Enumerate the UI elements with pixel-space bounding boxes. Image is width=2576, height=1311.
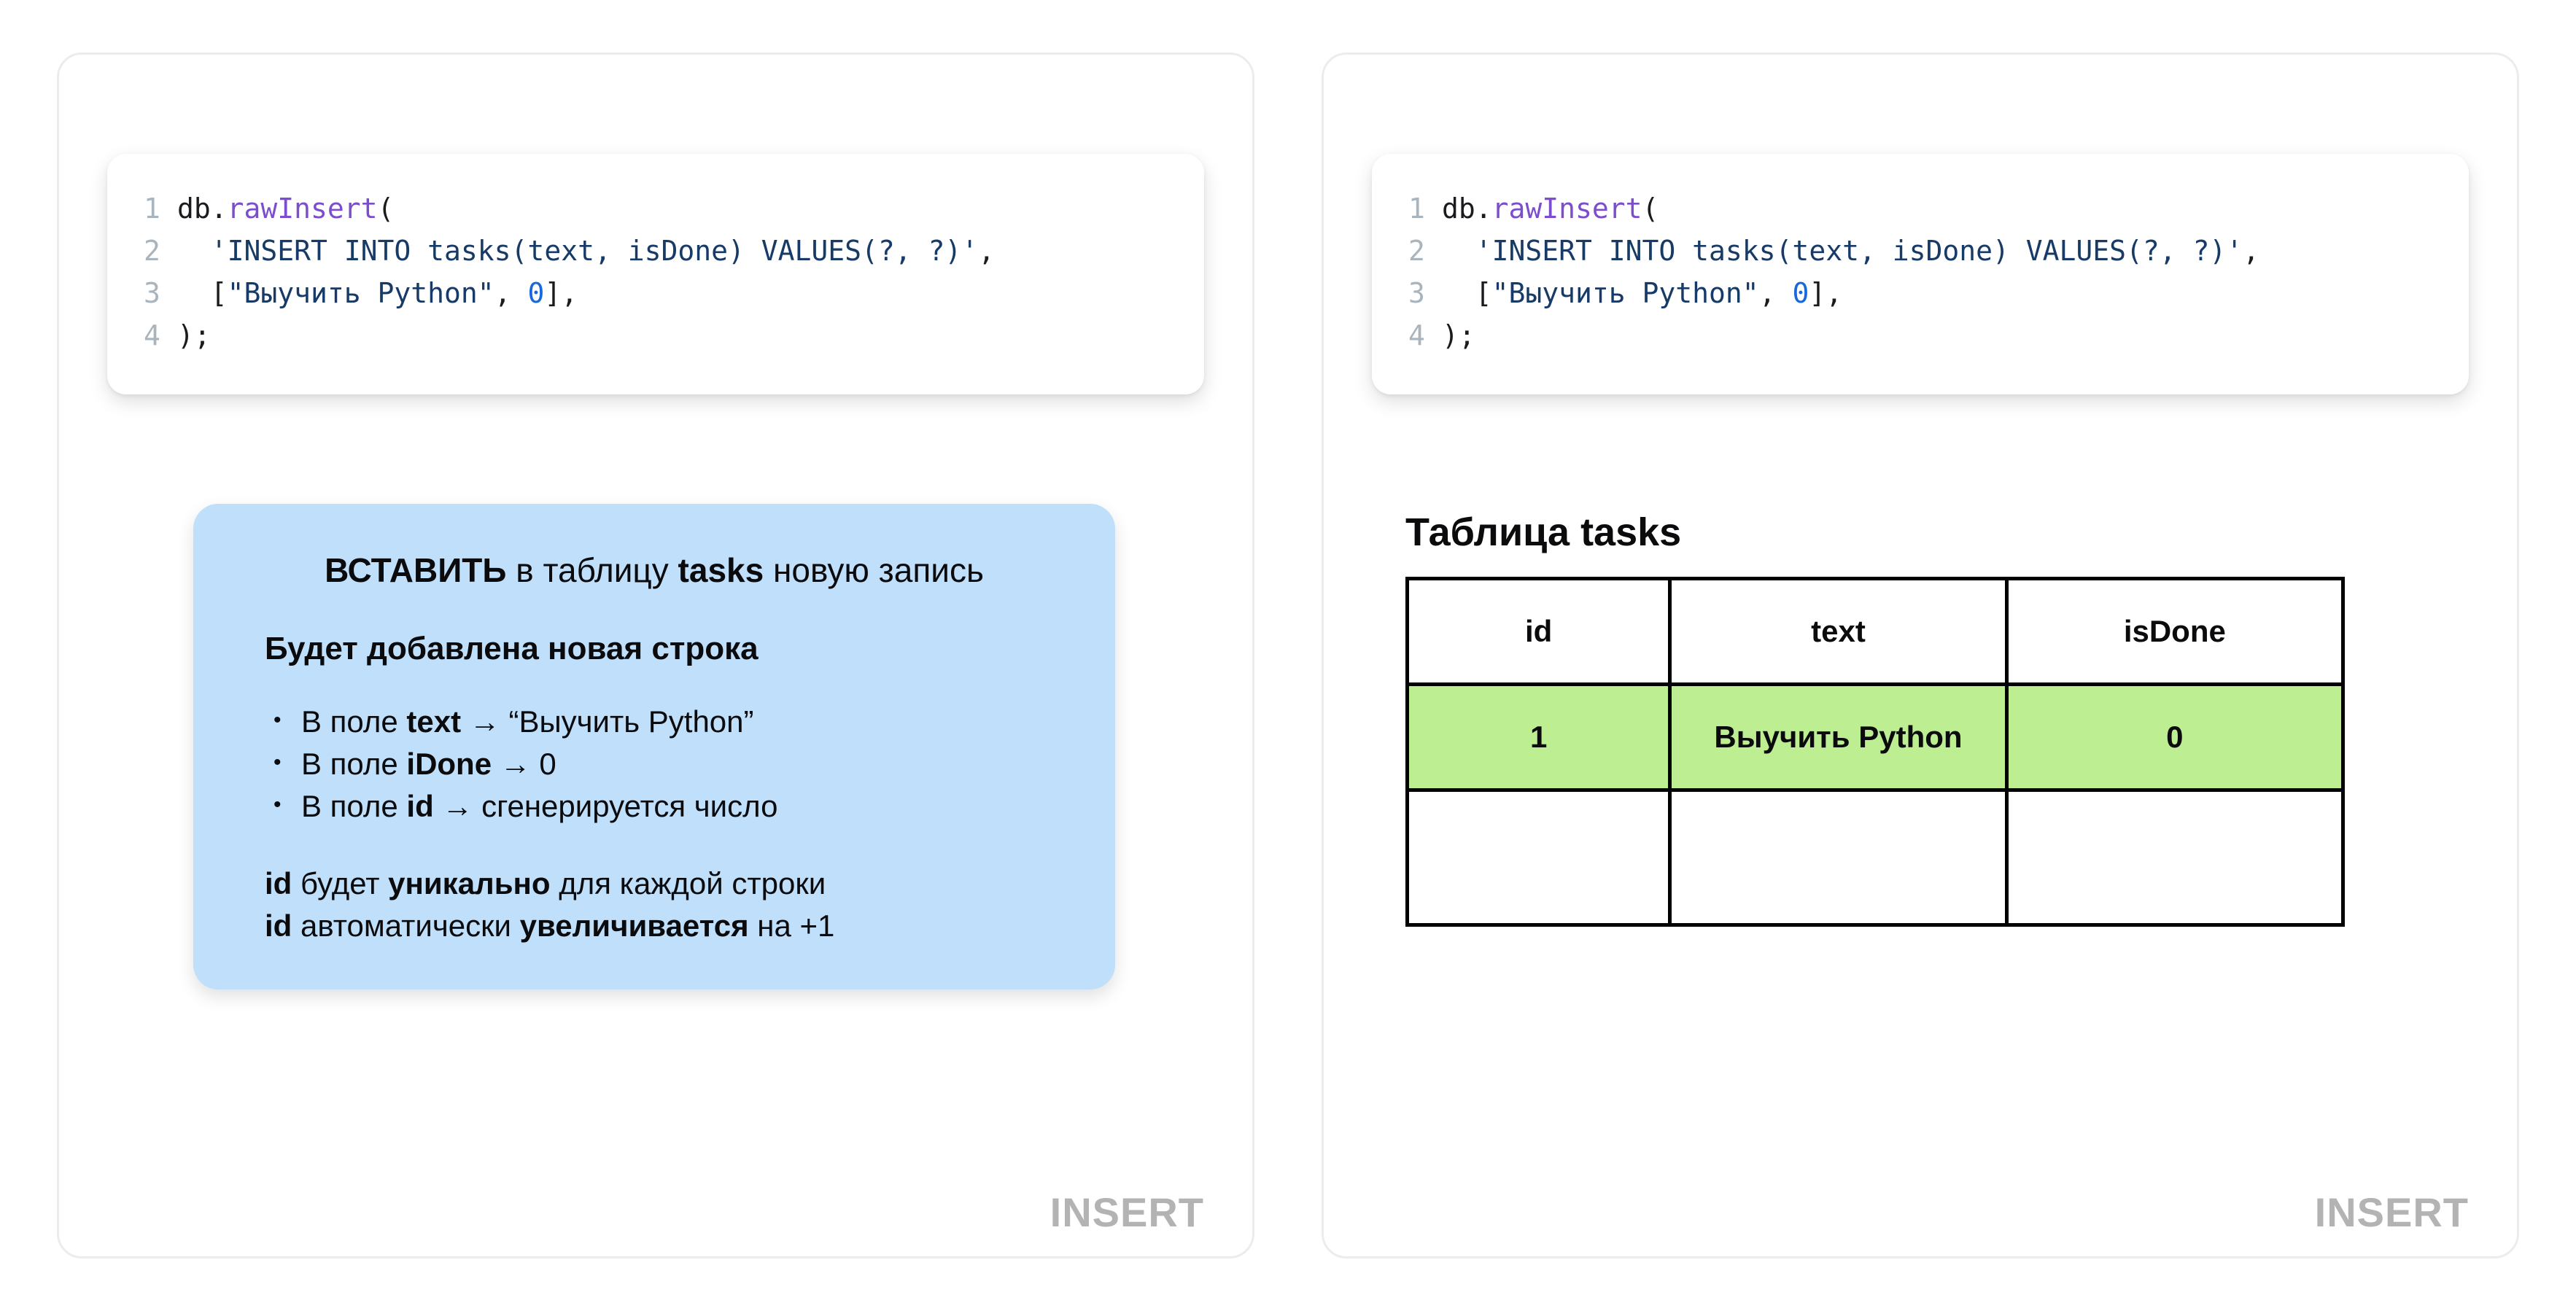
watermark-insert: INSERT (1050, 1189, 1204, 1236)
info-headline-bold-2: tasks (678, 551, 764, 589)
code-line: 4); (144, 314, 1168, 357)
code-line-number: 4 (1408, 314, 1442, 357)
code-token-string: "Выучить Python" (228, 277, 494, 309)
table-row: 1Выучить Python0 (1408, 685, 2343, 790)
code-token-plain: [ (1442, 277, 1492, 309)
info-headline: ВСТАВИТЬ в таблицу tasks новую запись (236, 549, 1073, 591)
table-title-name: tasks (1580, 510, 1681, 554)
bullet-field: id (406, 789, 433, 823)
footer-bold-1: id (265, 866, 292, 900)
code-line: 2 'INSERT INTO tasks(text, isDone) VALUE… (1408, 230, 2432, 272)
code-token-plain: ( (378, 192, 395, 225)
watermark-insert: INSERT (2315, 1189, 2469, 1236)
info-headline-mid-2: новую запись (764, 551, 984, 589)
table-header-row: idtextisDone (1408, 579, 2343, 685)
code-line: 4); (1408, 314, 2432, 357)
code-token-plain: db. (1442, 192, 1492, 225)
code-line: 3 ["Выучить Python", 0], (1408, 272, 2432, 314)
code-line-number: 1 (1408, 187, 1442, 230)
table-cell: 0 (2006, 685, 2343, 790)
info-headline-mid-1: в таблицу (506, 551, 678, 589)
table-cell (2006, 790, 2343, 925)
code-token-string: 'INSERT INTO tasks(text, isDone) VALUES(… (1442, 235, 2243, 267)
code-token-plain: , (494, 277, 528, 309)
table-cell: Выучить Python (1670, 685, 2006, 790)
info-footer-line: id будет уникально для каждой строки (265, 863, 1073, 905)
bullet-arrow: → (461, 704, 508, 739)
code-token-string: "Выучить Python" (1492, 277, 1759, 309)
code-token-plain: ], (1809, 277, 1842, 309)
code-token-plain: , (2243, 235, 2259, 267)
code-token-plain: ], (544, 277, 578, 309)
table-cell (1670, 790, 2006, 925)
info-subheading: Будет добавлена новая строка (265, 629, 1073, 669)
code-token-string: 'INSERT INTO tasks(text, isDone) VALUES(… (177, 235, 978, 267)
table-header-cell: text (1670, 579, 2006, 685)
table-row (1408, 790, 2343, 925)
table-cell (1408, 790, 1670, 925)
footer-bold-1: id (265, 909, 292, 943)
code-line: 1db.rawInsert( (1408, 187, 2432, 230)
table-title-prefix: Таблица (1405, 510, 1580, 554)
bullet-value: 0 (539, 747, 556, 781)
code-token-method: rawInsert (228, 192, 378, 225)
code-token-plain: db. (177, 192, 228, 225)
code-block-right: 1db.rawInsert(2 'INSERT INTO tasks(text,… (1372, 154, 2469, 394)
info-bullet-list: В поле text → “Выучить Python” В поле iD… (236, 701, 1073, 828)
code-line: 2 'INSERT INTO tasks(text, isDone) VALUE… (144, 230, 1168, 272)
bullet-arrow: → (434, 789, 481, 823)
footer-mid-2: на +1 (749, 909, 835, 943)
code-token-plain: , (978, 235, 995, 267)
footer-bold-2: увеличивается (520, 909, 749, 943)
bullet-value: сгенерируется число (481, 789, 777, 823)
code-line: 3 ["Выучить Python", 0], (144, 272, 1168, 314)
code-line-number: 3 (1408, 272, 1442, 314)
left-slide-card: 1db.rawInsert(2 'INSERT INTO tasks(text,… (57, 52, 1254, 1259)
code-line-number: 1 (144, 187, 177, 230)
info-footer-line: id автоматически увеличивается на +1 (265, 905, 1073, 947)
page-title: Таблица tasks (1405, 510, 2469, 555)
footer-bold-2: уникально (388, 866, 550, 900)
info-footer: id будет уникально для каждой строки id … (265, 863, 1073, 947)
info-callout: ВСТАВИТЬ в таблицу tasks новую запись Бу… (193, 504, 1115, 989)
tasks-table: idtextisDone1Выучить Python0 (1405, 577, 2345, 927)
list-item: В поле iDone → 0 (269, 743, 1073, 785)
table-cell: 1 (1408, 685, 1670, 790)
code-token-plain: ); (177, 319, 211, 351)
code-lines-left: 1db.rawInsert(2 'INSERT INTO tasks(text,… (144, 187, 1168, 357)
code-line-number: 2 (144, 230, 177, 272)
list-item: В поле id → сгенерируется число (269, 785, 1073, 828)
bullet-prefix: В поле (301, 704, 406, 739)
code-token-method: rawInsert (1492, 192, 1642, 225)
info-headline-bold-1: ВСТАВИТЬ (325, 551, 506, 589)
table-header-cell: id (1408, 579, 1670, 685)
bullet-prefix: В поле (301, 747, 406, 781)
bullet-field: text (406, 704, 461, 739)
code-block-left: 1db.rawInsert(2 'INSERT INTO tasks(text,… (107, 154, 1204, 394)
footer-mid-2: для каждой строки (551, 866, 826, 900)
code-line-number: 4 (144, 314, 177, 357)
code-token-plain: , (1759, 277, 1793, 309)
bullet-prefix: В поле (301, 789, 406, 823)
footer-mid-1: будет (292, 866, 388, 900)
footer-mid-1: автоматически (292, 909, 519, 943)
bullet-field: iDone (406, 747, 492, 781)
bullet-arrow: → (492, 747, 539, 781)
code-lines-right: 1db.rawInsert(2 'INSERT INTO tasks(text,… (1408, 187, 2432, 357)
table-header-cell: isDone (2006, 579, 2343, 685)
tasks-table-body: idtextisDone1Выучить Python0 (1408, 579, 2343, 925)
code-token-plain: ( (1642, 192, 1659, 225)
code-token-plain: [ (177, 277, 228, 309)
slide-stage: 1db.rawInsert(2 'INSERT INTO tasks(text,… (0, 0, 2576, 1311)
code-line-number: 3 (144, 272, 177, 314)
code-line: 1db.rawInsert( (144, 187, 1168, 230)
list-item: В поле text → “Выучить Python” (269, 701, 1073, 743)
code-token-plain: ); (1442, 319, 1475, 351)
bullet-value: “Выучить Python” (508, 704, 753, 739)
code-token-number: 0 (1792, 277, 1809, 309)
code-token-number: 0 (527, 277, 544, 309)
right-slide-card: 1db.rawInsert(2 'INSERT INTO tasks(text,… (1322, 52, 2519, 1259)
code-line-number: 2 (1408, 230, 1442, 272)
